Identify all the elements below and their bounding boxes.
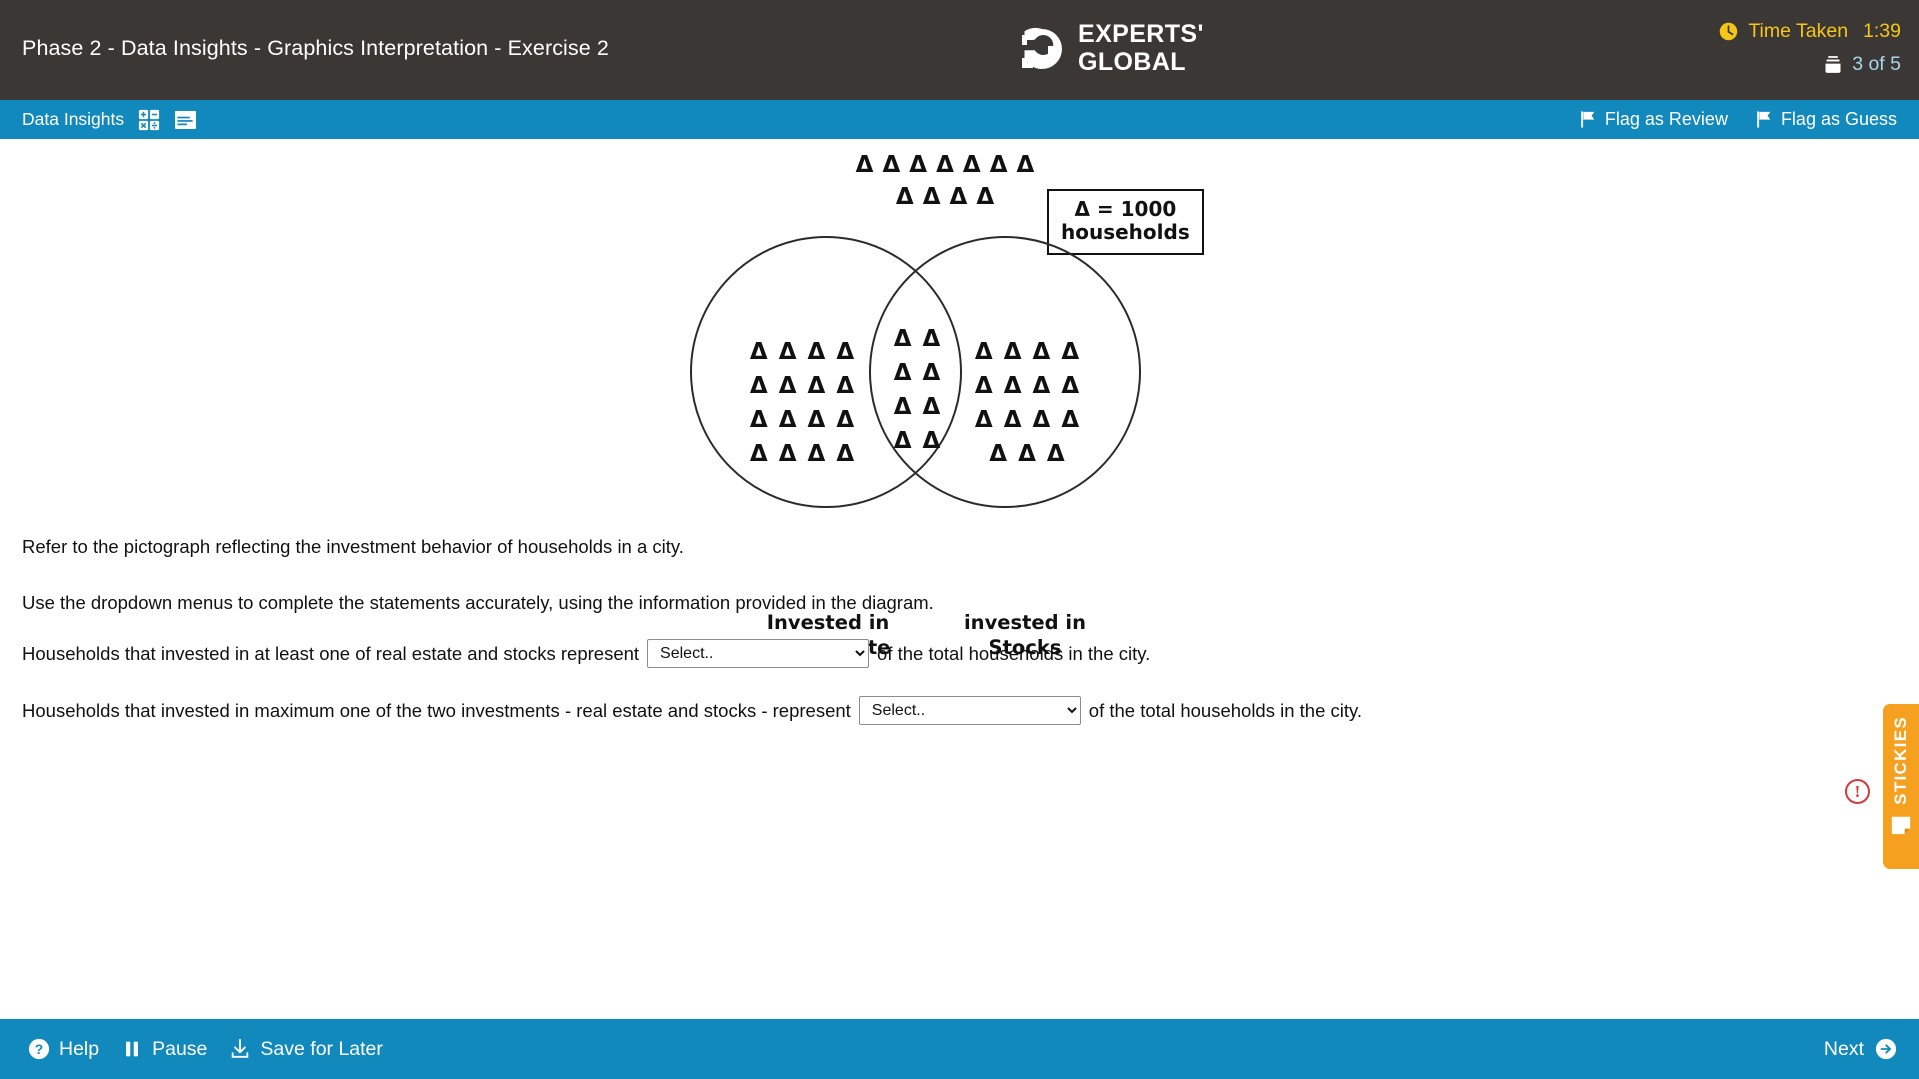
flag-as-review-label: Flag as Review [1605,109,1728,130]
pictograph-glyph: Δ [950,186,968,209]
pictograph-glyph: Δ [1018,443,1036,466]
save-for-later-button[interactable]: Save for Later [229,1038,382,1061]
glyph-row: ΔΔΔΔ [732,341,872,364]
timer-block: Time Taken 1:39 3 of 5 [1541,16,1901,79]
pictograph-glyph: Δ [976,186,994,209]
pictograph-glyph: Δ [836,409,854,432]
pictograph-glyph: Δ [1061,341,1079,364]
page-title: Phase 2 - Data Insights - Graphics Inter… [22,36,609,61]
statement-2-dropdown[interactable]: Select.. [859,696,1081,725]
question-content: ΔΔΔΔΔΔΔ ΔΔΔΔ Δ = 1000 households ΔΔΔΔ ΔΔ… [0,139,1919,1019]
pictograph-glyph: Δ [894,328,912,351]
time-taken-row: Time Taken 1:39 [1541,16,1901,46]
flag-icon [1580,111,1596,128]
footer-left-group: ? Help Pause Save for Later [28,1019,383,1079]
glyph-row: ΔΔΔΔ [732,443,872,466]
pictograph-glyph: Δ [923,430,941,453]
glyph-row: ΔΔ [886,396,948,419]
statement-1-dropdown[interactable]: Select.. [647,639,869,668]
pause-button[interactable]: Pause [121,1038,207,1061]
pictograph-glyph: Δ [975,341,993,364]
outside-region-glyphs: ΔΔΔΔΔΔΔ ΔΔΔΔ [830,154,1060,218]
pictograph-glyph: Δ [923,396,941,419]
experts-global-logo-icon [1018,25,1066,73]
pictograph-glyph: Δ [808,409,826,432]
venn-diagram: ΔΔΔΔ ΔΔΔΔ ΔΔΔΔ ΔΔΔΔ ΔΔ ΔΔ ΔΔ ΔΔ ΔΔΔΔ ΔΔΔ… [690,236,1170,516]
left-only-region-glyphs: ΔΔΔΔ ΔΔΔΔ ΔΔΔΔ ΔΔΔΔ [732,341,872,477]
statement-1-text-after: of the total households in the city. [877,643,1150,665]
pictograph-glyph: Δ [1033,341,1051,364]
statement-row-1: Households that invested in at least one… [22,639,1150,668]
venn-label-right-line-1: invested in [915,611,1135,636]
pictograph-glyph: Δ [808,443,826,466]
status-badge[interactable]: ! [1845,779,1870,804]
pictograph-glyph: Δ [1017,154,1035,177]
pictograph-glyph: Δ [856,154,874,177]
app-header: Phase 2 - Data Insights - Graphics Inter… [0,0,1919,100]
venn-label-left-line-1: Invested in [718,611,938,636]
sticky-note-icon [1890,814,1912,836]
flag-icon [1756,111,1772,128]
glyph-row: ΔΔΔΔ [967,409,1087,432]
pictograph-glyph: Δ [923,186,941,209]
clock-icon [1718,21,1739,42]
pictograph-glyph: Δ [909,154,927,177]
pictograph-glyph: Δ [894,396,912,419]
navbar-left-group: Data Insights [22,100,197,139]
pictograph-figure: ΔΔΔΔΔΔΔ ΔΔΔΔ Δ = 1000 households ΔΔΔΔ ΔΔ… [690,154,1250,634]
arrow-right-circle-icon [1875,1038,1897,1060]
statement-row-2: Households that invested in maximum one … [22,696,1362,725]
pictograph-glyph: Δ [1061,409,1079,432]
brand-line-2: GLOBAL [1078,50,1204,75]
pictograph-glyph: Δ [1004,375,1022,398]
brand-wordmark: EXPERTS' GLOBAL [1078,22,1204,75]
pictograph-glyph: Δ [896,186,914,209]
pictograph-glyph: Δ [989,443,1007,466]
glyph-row: ΔΔ [886,362,948,385]
pictograph-glyph: Δ [836,341,854,364]
statement-1-text-before: Households that invested in at least one… [22,643,639,665]
prompt-line-1: Refer to the pictograph reflecting the i… [22,536,684,558]
exam-page: Phase 2 - Data Insights - Graphics Inter… [0,0,1919,1079]
pictograph-glyph: Δ [894,362,912,385]
pictograph-glyph: Δ [990,154,1008,177]
pictograph-glyph: Δ [1004,341,1022,364]
pictograph-glyph: Δ [779,341,797,364]
time-taken-label: Time Taken [1748,20,1848,43]
pictograph-glyph: Δ [779,443,797,466]
calculator-icon[interactable] [138,109,160,131]
question-count-row: 3 of 5 [1541,49,1901,79]
pictograph-glyph: Δ [779,409,797,432]
pictograph-glyph: Δ [936,154,954,177]
pictograph-glyph: Δ [836,443,854,466]
section-label: Data Insights [22,109,124,130]
brand-logo: EXPERTS' GLOBAL [1018,22,1204,75]
next-button[interactable]: Next [1824,1019,1897,1079]
glyph-row: ΔΔΔΔΔΔΔ [830,154,1060,177]
pictograph-glyph: Δ [1033,409,1051,432]
stickies-tab[interactable]: STICKIES [1883,704,1919,869]
glyph-row: ΔΔΔΔ [732,375,872,398]
pictograph-glyph: Δ [975,375,993,398]
question-count-value: 3 of 5 [1852,53,1901,76]
pictograph-glyph: Δ [894,430,912,453]
pictograph-glyph: Δ [750,409,768,432]
download-icon [229,1038,251,1060]
statement-2-text-before: Households that invested in maximum one … [22,700,851,722]
pictograph-glyph: Δ [1047,443,1065,466]
pictograph-glyph: Δ [836,375,854,398]
pictograph-glyph: Δ [923,328,941,351]
glyph-row: ΔΔΔΔ [732,409,872,432]
right-only-region-glyphs: ΔΔΔΔ ΔΔΔΔ ΔΔΔΔ ΔΔΔ [967,341,1087,477]
pictograph-glyph: Δ [808,375,826,398]
question-circle-icon: ? [28,1038,50,1060]
stickies-label: STICKIES [1891,716,1911,805]
pictograph-glyph: Δ [923,362,941,385]
svg-text:?: ? [35,1042,43,1057]
intersection-region-glyphs: ΔΔ ΔΔ ΔΔ ΔΔ [886,328,948,464]
legend-line-1: Δ = 1000 [1061,198,1190,221]
glyph-row: ΔΔΔΔ [830,186,1060,209]
pause-icon [121,1038,143,1060]
pause-label: Pause [152,1038,207,1061]
pictograph-glyph: Δ [975,409,993,432]
brand-line-1: EXPERTS' [1078,22,1204,47]
help-button[interactable]: ? Help [28,1038,99,1061]
next-label: Next [1824,1038,1864,1061]
flag-as-guess-button[interactable]: Flag as Guess [1756,109,1897,130]
pictograph-glyph: Δ [779,375,797,398]
whiteboard-icon[interactable] [174,110,197,130]
pictograph-glyph: Δ [750,443,768,466]
glyph-row: ΔΔΔ [967,443,1087,466]
help-label: Help [59,1038,99,1061]
pictograph-glyph: Δ [882,154,900,177]
pictograph-glyph: Δ [1033,375,1051,398]
pictograph-glyph: Δ [808,341,826,364]
pictograph-glyph: Δ [1004,409,1022,432]
tool-navbar: Data Insights [0,100,1919,139]
glyph-row: ΔΔΔΔ [967,375,1087,398]
flag-as-guess-label: Flag as Guess [1781,109,1897,130]
question-stack-icon [1823,55,1843,74]
pictograph-glyph: Δ [1061,375,1079,398]
time-taken-value: 1:39 [1863,20,1901,43]
pictograph-glyph: Δ [963,154,981,177]
flag-as-review-button[interactable]: Flag as Review [1580,109,1728,130]
glyph-row: ΔΔ [886,430,948,453]
prompt-line-2: Use the dropdown menus to complete the s… [22,592,934,614]
save-for-later-label: Save for Later [260,1038,382,1061]
app-footer: ? Help Pause Save for Later [0,1019,1919,1079]
navbar-right-group: Flag as Review Flag as Guess [1580,100,1897,139]
glyph-row: ΔΔ [886,328,948,351]
glyph-row: ΔΔΔΔ [967,341,1087,364]
statement-2-text-after: of the total households in the city. [1089,700,1362,722]
pictograph-glyph: Δ [750,341,768,364]
pictograph-glyph: Δ [750,375,768,398]
